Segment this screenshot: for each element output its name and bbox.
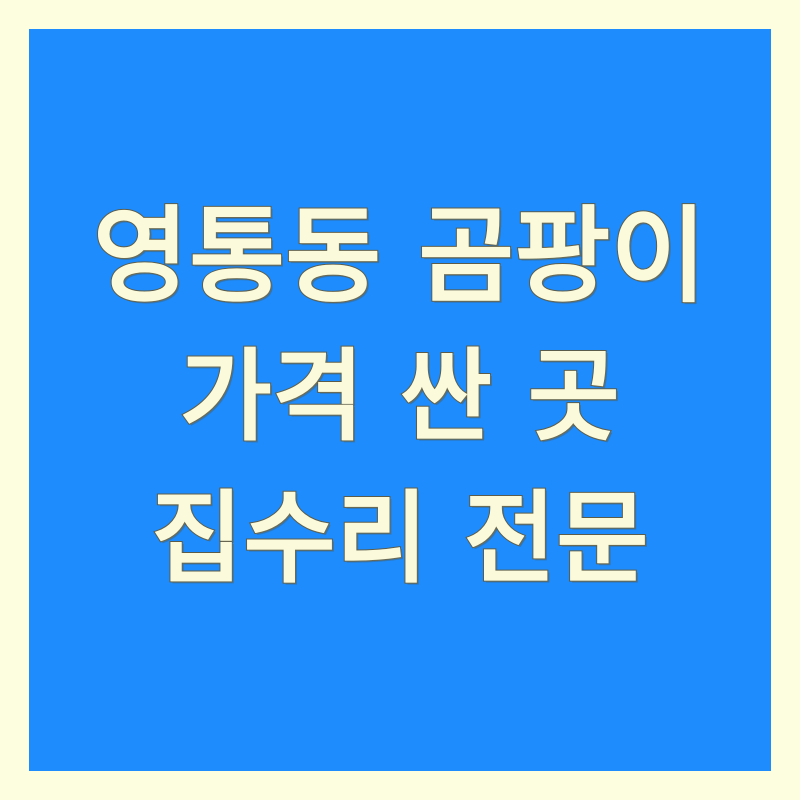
headline-line-1: 영통동 곰팡이 xyxy=(29,186,771,326)
headline-line-3: 집수리 전문 xyxy=(29,468,771,610)
headline-line-2: 가격 싼 곳 xyxy=(29,326,771,468)
blue-background-panel: 영통동 곰팡이 가격 싼 곳 집수리 전문 xyxy=(29,29,771,771)
poster-canvas: 영통동 곰팡이 가격 싼 곳 집수리 전문 xyxy=(0,0,800,800)
headline-block: 영통동 곰팡이 가격 싼 곳 집수리 전문 xyxy=(29,29,771,771)
